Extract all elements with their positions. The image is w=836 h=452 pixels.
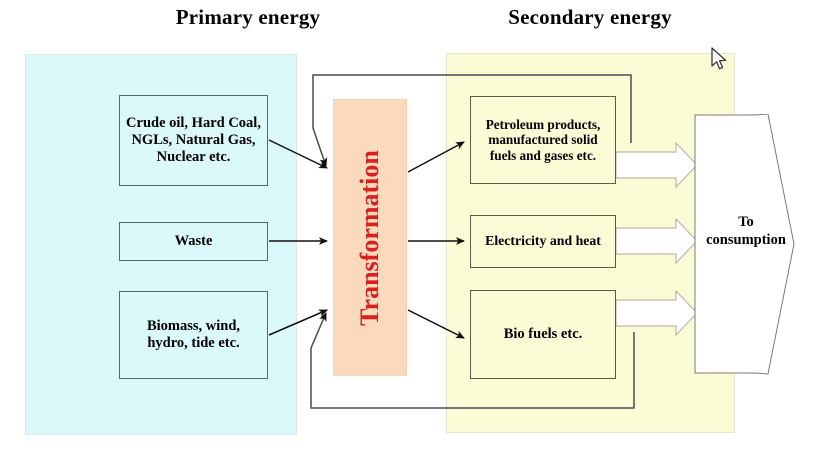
secondary-box-petroleum[interactable]: Petroleum products, manufactured solid f… <box>470 96 616 184</box>
to-consumption-label: To consumption <box>700 213 792 249</box>
primary-energy-title: Primary energy <box>98 5 398 30</box>
secondary-box-electricity-label: Electricity and heat <box>485 233 601 249</box>
transformation-label: Transformation <box>355 150 385 326</box>
primary-box-biomass-label: Biomass, wind, hydro, tide etc. <box>126 318 261 352</box>
secondary-box-biofuels[interactable]: Bio fuels etc. <box>470 290 616 379</box>
mouse-pointer-icon <box>711 47 731 73</box>
diagram-canvas: Primary energy Secondary energy <box>0 0 836 452</box>
secondary-box-biofuels-label: Bio fuels etc. <box>504 326 583 343</box>
secondary-box-petroleum-label: Petroleum products, manufactured solid f… <box>475 117 611 164</box>
primary-box-fossil[interactable]: Crude oil, Hard Coal, NGLs, Natural Gas,… <box>119 95 268 186</box>
primary-box-biomass[interactable]: Biomass, wind, hydro, tide etc. <box>119 291 268 379</box>
transformation-box[interactable]: Transformation <box>333 99 407 376</box>
primary-box-waste-label: Waste <box>175 233 213 250</box>
primary-box-waste[interactable]: Waste <box>119 222 268 261</box>
primary-box-fossil-label: Crude oil, Hard Coal, NGLs, Natural Gas,… <box>126 115 261 166</box>
secondary-energy-title: Secondary energy <box>440 5 740 30</box>
secondary-box-electricity[interactable]: Electricity and heat <box>470 215 616 268</box>
